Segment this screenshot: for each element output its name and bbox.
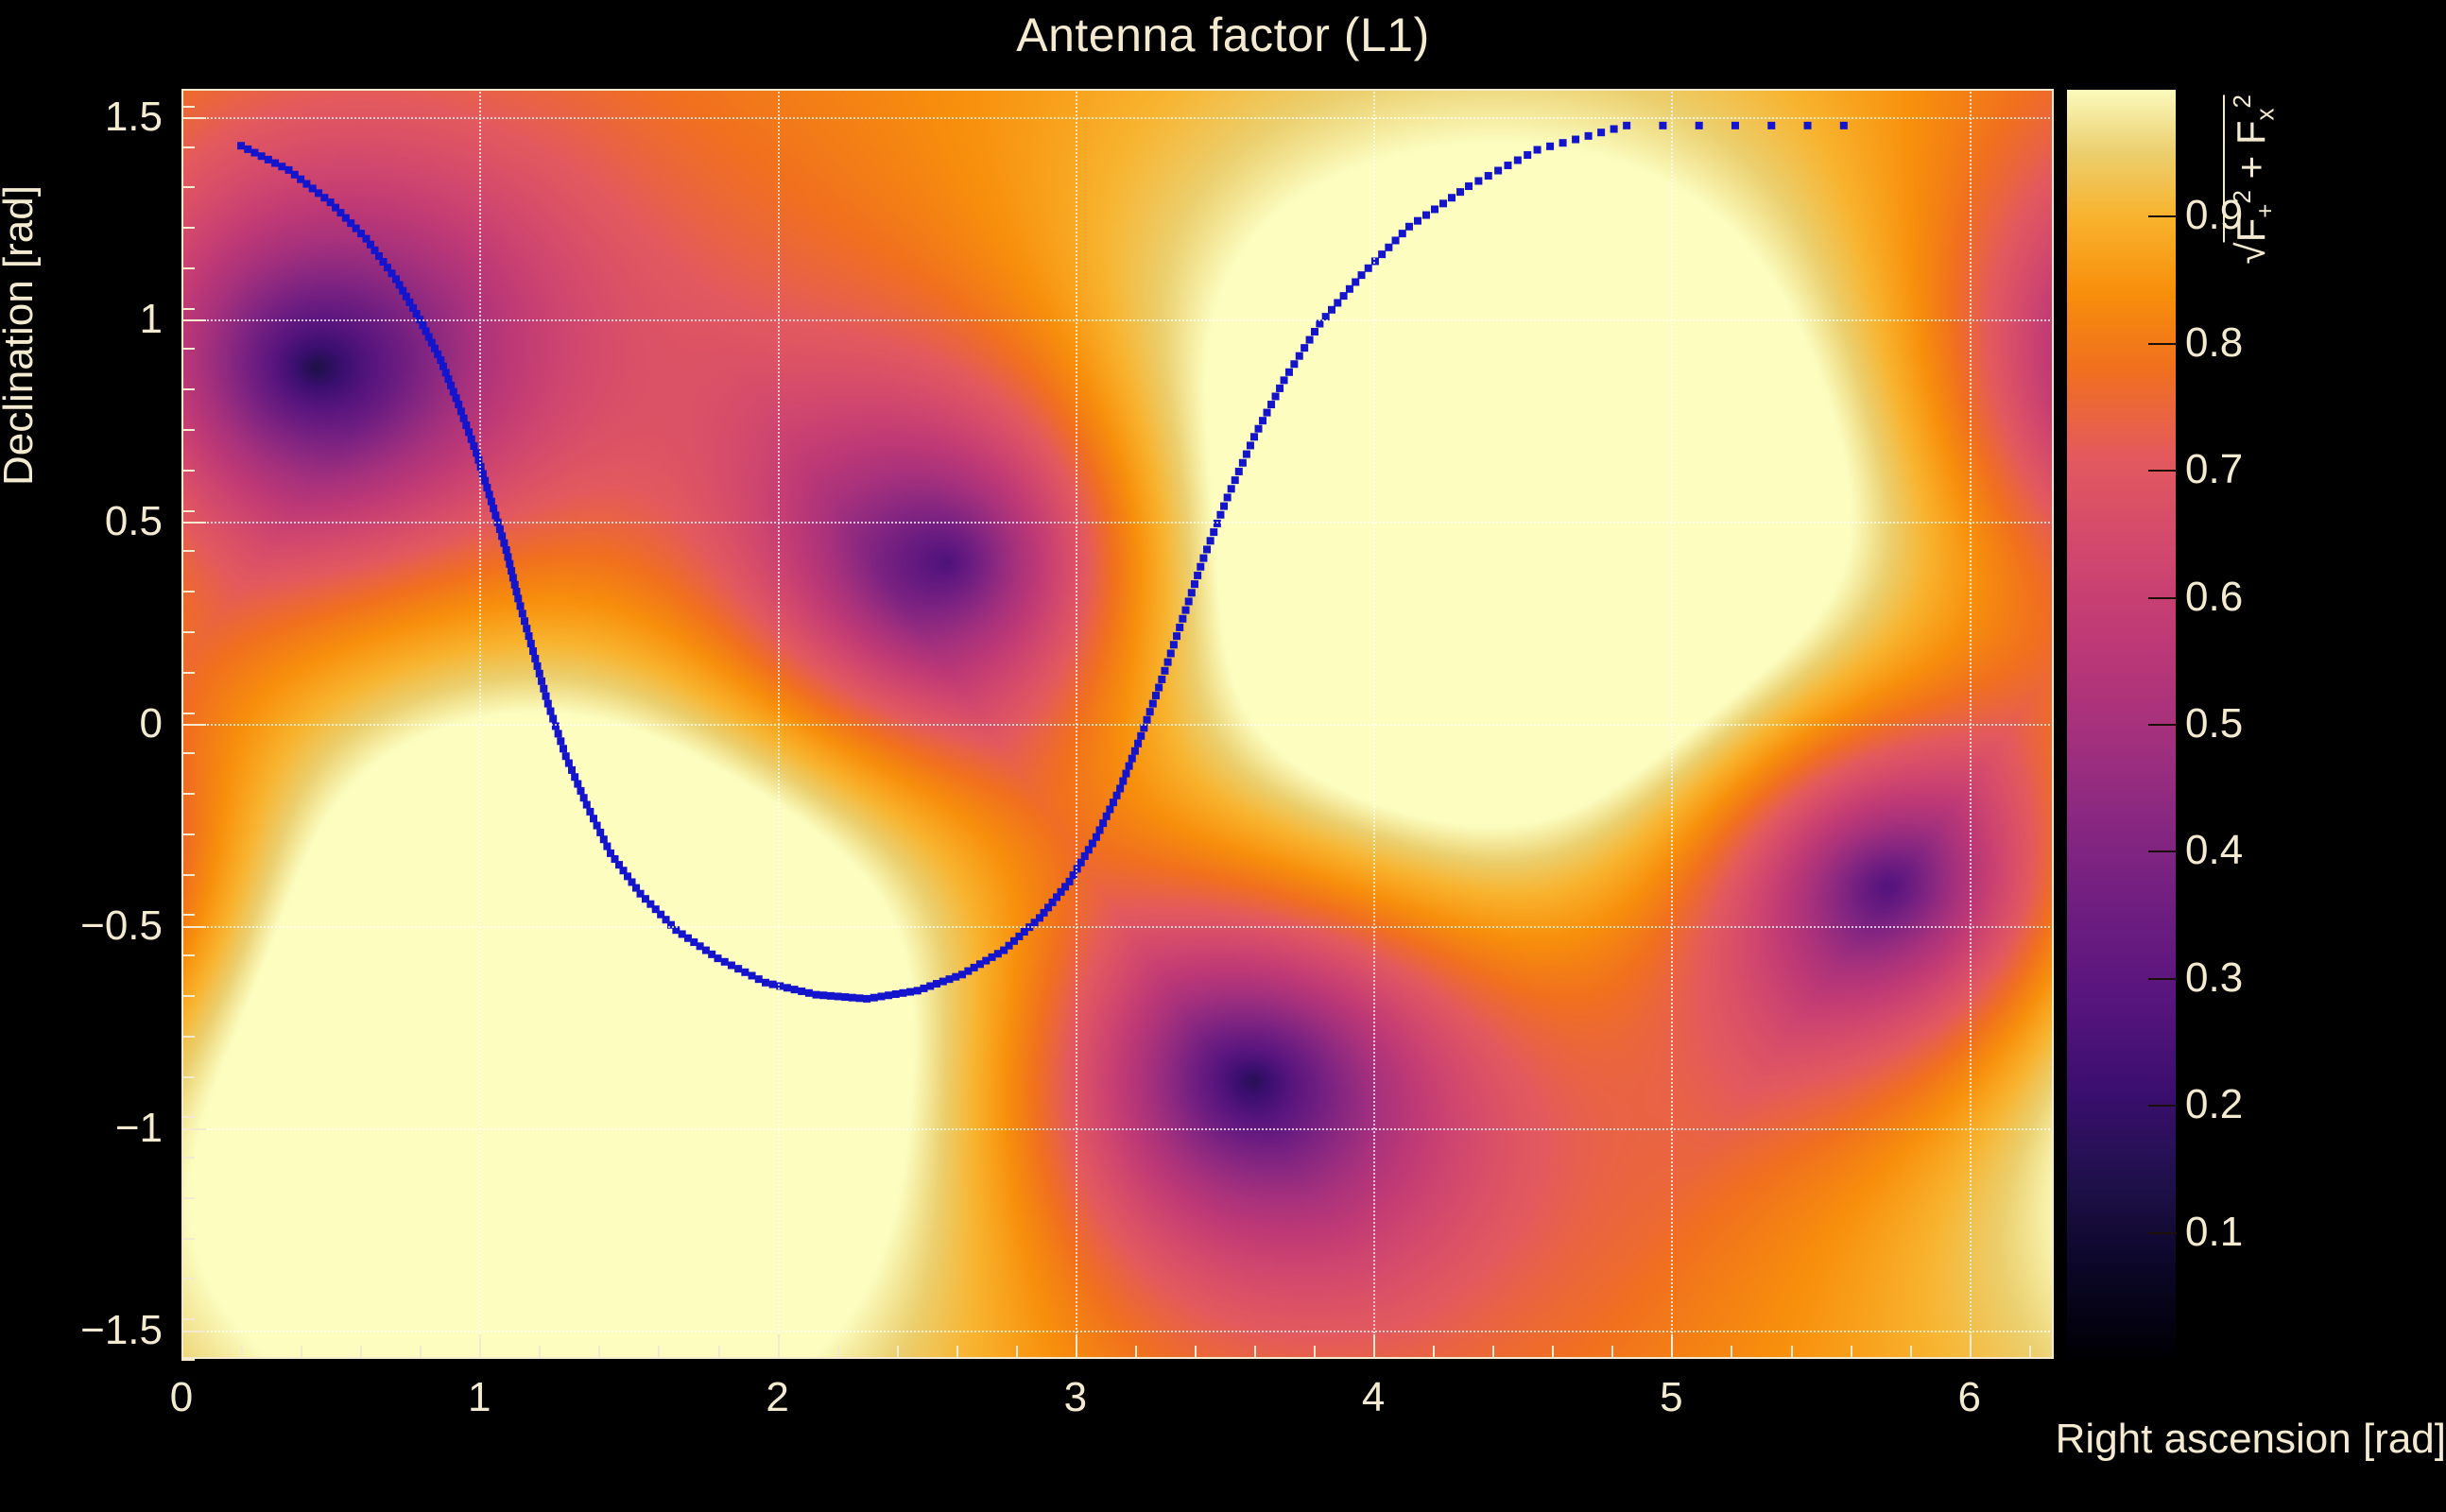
- overlay-point: [1224, 493, 1232, 501]
- overlay-point: [1767, 122, 1775, 129]
- overlay-point: [835, 992, 842, 1000]
- y-tick-minor: [181, 106, 195, 108]
- y-tick-minor: [181, 672, 195, 674]
- y-tick-minor: [181, 631, 195, 633]
- y-axis-title: Declination [rad]: [0, 5, 43, 666]
- overlay-point: [1096, 826, 1104, 833]
- overlay-point: [1131, 747, 1139, 755]
- overlay-point: [1194, 572, 1201, 579]
- overlay-point: [534, 662, 542, 670]
- overlay-point: [1247, 441, 1254, 449]
- overlay-point: [540, 685, 547, 693]
- overlay-point: [769, 981, 777, 988]
- colorbar-tick-label: 0.5: [2185, 700, 2243, 747]
- overlay-point: [521, 617, 528, 625]
- y-tick-minor: [181, 510, 195, 512]
- overlay-point: [500, 540, 508, 547]
- x-tick-minor: [718, 1346, 720, 1359]
- overlay-point: [517, 602, 525, 610]
- overlay-point: [577, 787, 584, 795]
- overlay-point: [457, 407, 465, 415]
- overlay-point: [899, 989, 906, 997]
- overlay-point: [1301, 344, 1308, 352]
- overlay-point: [1093, 833, 1100, 841]
- y-tick-minor: [181, 914, 195, 916]
- overlay-point: [1514, 157, 1522, 164]
- x-tick-major: [1970, 1334, 1972, 1359]
- x-tick-minor: [301, 1346, 302, 1359]
- x-tick-label: 6: [1957, 1374, 1980, 1421]
- overlay-point: [596, 829, 604, 836]
- overlay-point: [580, 794, 588, 801]
- x-tick-minor: [1254, 1346, 1256, 1359]
- overlay-point: [523, 625, 530, 632]
- overlay-point: [1422, 212, 1430, 219]
- x-tick-minor: [837, 1346, 839, 1359]
- overlay-point: [1140, 724, 1147, 731]
- overlay-point: [1611, 126, 1618, 133]
- overlay-point: [1220, 503, 1228, 510]
- colorbar-term1: F+2: [2229, 190, 2273, 242]
- overlay-point: [1659, 122, 1666, 129]
- y-tick-minor: [181, 146, 195, 148]
- overlay-point: [1524, 151, 1531, 159]
- x-tick-minor: [1552, 1346, 1554, 1359]
- colorbar-tick: [2148, 343, 2177, 345]
- x-tick-major: [1076, 1334, 1077, 1359]
- radical-icon: √F+2 + Fx2: [2223, 94, 2280, 277]
- y-tick-major: [181, 117, 206, 119]
- overlay-point: [1352, 278, 1359, 285]
- y-tick-label: −1: [30, 1105, 163, 1152]
- overlay-point: [1203, 545, 1211, 553]
- overlay-point: [1405, 223, 1413, 231]
- x-tick-major: [1671, 1334, 1673, 1359]
- overlay-point: [791, 986, 799, 993]
- overlay-point: [244, 146, 251, 153]
- overlay-point: [594, 822, 601, 830]
- overlay-point: [1152, 692, 1160, 699]
- overlay-point: [885, 991, 892, 999]
- overlay-point: [470, 442, 477, 450]
- colorbar-tick-label: 0.2: [2185, 1081, 2243, 1128]
- y-tick-minor: [181, 1318, 195, 1320]
- y-tick-label: 1: [30, 296, 163, 343]
- overlay-point: [1346, 285, 1353, 293]
- overlay-point: [1167, 649, 1175, 657]
- overlay-point: [571, 773, 578, 781]
- overlay-point: [870, 994, 878, 1002]
- x-tick-minor: [1611, 1346, 1613, 1359]
- overlay-point: [1546, 143, 1554, 150]
- overlay-point: [1197, 563, 1204, 571]
- x-tick-minor: [598, 1346, 600, 1359]
- overlay-point: [1103, 813, 1111, 820]
- overlay-point: [1119, 778, 1127, 785]
- overlay-point: [755, 975, 763, 983]
- x-tick-minor: [420, 1346, 422, 1359]
- plot-canvas: Antenna factor (L1) 0123456 −1.5−1−0.500…: [0, 0, 2446, 1512]
- overlay-point: [468, 436, 475, 443]
- overlay-point: [1128, 755, 1136, 763]
- overlay-point: [488, 498, 495, 506]
- overlay-point: [562, 752, 570, 760]
- colorbar-tick: [2148, 1232, 2177, 1234]
- y-tick-major: [181, 1331, 206, 1332]
- x-tick-minor: [1135, 1346, 1137, 1359]
- overlay-point: [1414, 217, 1421, 225]
- x-tick-minor: [1195, 1346, 1197, 1359]
- x-tick-major: [479, 1334, 481, 1359]
- overlay-point: [1392, 236, 1400, 244]
- x-tick-minor: [897, 1346, 899, 1359]
- y-tick-minor: [181, 591, 195, 593]
- x-tick-label: 1: [468, 1374, 491, 1421]
- y-tick-major: [181, 319, 206, 321]
- overlay-point: [1259, 417, 1266, 424]
- overlay-point: [1597, 129, 1605, 136]
- x-axis-title: Right ascension [rad]: [392, 1416, 2446, 1463]
- overlay-point: [508, 567, 515, 575]
- colorbar-title: √F+2 + Fx2: [2223, 94, 2280, 277]
- overlay-point: [1122, 770, 1129, 778]
- colorbar-tick: [2148, 978, 2177, 980]
- overlay-point: [1134, 740, 1142, 747]
- overlay-point: [741, 969, 749, 976]
- x-tick-minor: [1492, 1346, 1494, 1359]
- overlay-point: [1214, 520, 1221, 527]
- overlay-point: [544, 700, 552, 708]
- overlay-point: [776, 982, 784, 989]
- x-tick-label: 3: [1064, 1374, 1087, 1421]
- overlay-point: [798, 988, 805, 995]
- x-tick-major: [1373, 1334, 1375, 1359]
- x-tick-label: 2: [766, 1374, 788, 1421]
- overlay-point: [494, 519, 502, 526]
- overlay-point: [491, 511, 499, 519]
- overlay-point: [531, 655, 539, 662]
- x-tick-minor: [2029, 1346, 2031, 1359]
- overlay-point: [1285, 369, 1293, 376]
- overlay-point: [1316, 319, 1323, 327]
- overlay-point: [583, 801, 591, 809]
- overlay-point: [1185, 597, 1193, 605]
- y-tick-minor: [181, 954, 195, 956]
- colorbar-tick: [2148, 215, 2177, 217]
- overlay-point: [574, 781, 581, 788]
- overlay-point: [892, 990, 900, 998]
- overlay-point: [1146, 708, 1154, 715]
- x-tick-minor: [539, 1346, 541, 1359]
- overlay-point: [479, 470, 487, 477]
- overlay-point: [557, 737, 564, 745]
- overlay-point: [498, 532, 506, 540]
- x-tick-minor: [956, 1346, 958, 1359]
- overlay-point: [258, 152, 266, 160]
- overlay-point: [819, 991, 827, 999]
- overlay-point: [1322, 313, 1330, 320]
- overlay-point: [1290, 360, 1298, 368]
- overlay-point: [1378, 250, 1386, 258]
- y-tick-minor: [181, 429, 195, 431]
- colorbar-tick: [2148, 850, 2177, 852]
- overlay-point: [1239, 459, 1247, 467]
- overlay-point: [565, 760, 573, 767]
- overlay-point: [549, 714, 557, 722]
- y-tick-minor: [181, 713, 195, 714]
- overlay-point: [1281, 376, 1288, 384]
- x-tick-minor: [241, 1346, 243, 1359]
- overlay-point: [734, 965, 742, 972]
- overlay-point: [525, 632, 533, 640]
- overlay-point: [511, 581, 519, 589]
- overlay-point: [1328, 306, 1335, 314]
- overlay-point: [465, 428, 473, 436]
- overlay-point: [1173, 632, 1180, 640]
- colorbar-tick: [2148, 724, 2177, 726]
- overlay-point: [1113, 792, 1121, 799]
- colorbar-tick-label: 0.1: [2185, 1209, 2243, 1256]
- overlay-point: [1110, 799, 1117, 806]
- overlay-point: [715, 954, 722, 962]
- y-tick-minor: [181, 470, 195, 472]
- overlay-point: [1696, 122, 1703, 129]
- overlay-point: [1243, 451, 1250, 458]
- galactic-plane-overlay: [181, 89, 2054, 1359]
- overlay-point: [527, 640, 535, 647]
- overlay-point: [1164, 659, 1172, 666]
- x-tick-label: 4: [1362, 1374, 1385, 1421]
- overlay-point: [1144, 716, 1151, 724]
- overlay-point: [490, 505, 497, 512]
- overlay-point: [1255, 425, 1263, 433]
- overlay-point: [1456, 188, 1464, 196]
- y-tick-label: −1.5: [30, 1307, 163, 1354]
- overlay-point: [1371, 257, 1379, 265]
- overlay-point: [1311, 328, 1318, 335]
- overlay-point: [1228, 485, 1235, 492]
- overlay-point: [1306, 336, 1314, 344]
- overlay-point: [560, 745, 567, 752]
- overlay-point: [1494, 167, 1502, 175]
- y-tick-minor: [181, 874, 195, 876]
- colorbar-tick: [2148, 470, 2177, 472]
- overlay-point: [552, 722, 560, 730]
- overlay-point: [460, 415, 468, 422]
- x-tick-label: 0: [170, 1374, 193, 1421]
- overlay-point: [237, 142, 245, 149]
- overlay-point: [1485, 172, 1492, 180]
- overlay-point: [1623, 122, 1630, 129]
- x-tick-major: [181, 1334, 183, 1359]
- overlay-point: [1474, 178, 1482, 185]
- y-tick-minor: [181, 1278, 195, 1280]
- overlay-point: [1585, 132, 1593, 140]
- overlay-point: [504, 553, 511, 560]
- y-tick-major: [181, 1128, 206, 1130]
- overlay-point: [547, 708, 555, 715]
- overlay-point: [1264, 409, 1271, 417]
- overlay-point: [477, 463, 485, 471]
- overlay-point: [784, 984, 791, 991]
- overlay-point: [1340, 292, 1348, 300]
- y-tick-minor: [181, 1157, 195, 1159]
- overlay-point: [481, 477, 489, 485]
- overlay-point: [538, 678, 545, 685]
- overlay-point: [1126, 763, 1133, 770]
- overlay-point: [1161, 667, 1168, 675]
- overlay-point: [805, 989, 813, 997]
- x-tick-label: 5: [1660, 1374, 1682, 1421]
- overlay-point: [1276, 385, 1283, 392]
- overlay-point: [473, 449, 480, 456]
- y-tick-label: −0.5: [30, 902, 163, 950]
- overlay-point: [278, 163, 285, 170]
- overlay-point: [1232, 476, 1239, 484]
- colorbar-tick: [2148, 597, 2177, 599]
- overlay-point: [486, 490, 493, 498]
- y-tick-minor: [181, 1036, 195, 1038]
- y-tick-minor: [181, 752, 195, 754]
- overlay-point: [555, 730, 562, 737]
- y-tick-minor: [181, 267, 195, 269]
- overlay-point: [265, 156, 272, 163]
- x-tick-major: [778, 1334, 780, 1359]
- y-tick-minor: [181, 348, 195, 350]
- overlay-point: [1448, 194, 1456, 201]
- x-tick-minor: [658, 1346, 660, 1359]
- overlay-point: [586, 808, 594, 816]
- heatmap-plot-area[interactable]: [181, 89, 2054, 1359]
- y-tick-minor: [181, 1238, 195, 1240]
- overlay-point: [483, 484, 491, 491]
- overlay-point: [568, 766, 576, 774]
- overlay-point: [1267, 401, 1275, 408]
- overlay-point: [1106, 805, 1113, 813]
- overlay-point: [1559, 139, 1567, 146]
- overlay-point: [1216, 511, 1224, 519]
- colorbar-tick-label: 0.3: [2185, 954, 2243, 1002]
- colorbar-tick-label: 0.8: [2185, 319, 2243, 367]
- overlay-point: [721, 958, 729, 966]
- overlay-point: [1155, 683, 1163, 691]
- colorbar-tick-label: 0.4: [2185, 827, 2243, 874]
- y-tick-minor: [181, 550, 195, 552]
- overlay-point: [1365, 265, 1372, 272]
- overlay-point: [1250, 433, 1258, 440]
- y-tick-minor: [181, 308, 195, 310]
- colorbar-operator: +: [2229, 156, 2273, 180]
- overlay-point: [1188, 589, 1196, 596]
- overlay-point: [1272, 392, 1280, 400]
- overlay-point: [906, 988, 914, 996]
- overlay-point: [462, 421, 470, 429]
- overlay-point: [1439, 199, 1447, 207]
- overlay-point: [1116, 784, 1124, 792]
- overlay-point: [536, 670, 543, 678]
- y-tick-label: 0.5: [30, 498, 163, 545]
- overlay-point: [1235, 468, 1243, 475]
- sqrt-glyph: √: [2229, 242, 2273, 264]
- y-tick-minor: [181, 833, 195, 835]
- overlay-point: [1199, 555, 1207, 562]
- overlay-point: [1358, 271, 1366, 279]
- y-tick-major: [181, 522, 206, 524]
- x-tick-minor: [1851, 1346, 1852, 1359]
- overlay-point: [762, 979, 769, 987]
- overlay-point: [1191, 580, 1198, 588]
- overlay-point: [600, 835, 608, 843]
- overlay-point: [1210, 528, 1217, 536]
- colorbar-tick-label: 0.7: [2185, 446, 2243, 493]
- overlay-point: [863, 995, 870, 1003]
- overlay-point: [1804, 122, 1812, 129]
- y-tick-minor: [181, 1076, 195, 1078]
- overlay-point: [1572, 136, 1579, 144]
- overlay-point: [1334, 299, 1341, 306]
- x-tick-minor: [1433, 1346, 1435, 1359]
- overlay-point: [1465, 182, 1473, 190]
- y-tick-minor: [181, 995, 195, 997]
- overlay-point: [1504, 162, 1511, 169]
- overlay-point: [543, 693, 550, 700]
- overlay-point: [271, 160, 279, 167]
- colorbar-tick: [2148, 1105, 2177, 1107]
- overlay-point: [1137, 732, 1145, 740]
- overlay-point: [1207, 537, 1214, 544]
- overlay-point: [590, 815, 597, 822]
- y-tick-minor: [181, 227, 195, 229]
- y-tick-minor: [181, 186, 195, 188]
- overlay-point: [1840, 122, 1848, 129]
- y-tick-minor: [181, 1197, 195, 1199]
- x-tick-minor: [1791, 1346, 1793, 1359]
- y-tick-label: 0: [30, 700, 163, 747]
- x-tick-minor: [1016, 1346, 1018, 1359]
- overlay-point: [519, 610, 526, 617]
- overlay-point: [506, 560, 513, 568]
- y-tick-label: 1.5: [30, 94, 163, 141]
- page-title: Antenna factor (L1): [0, 8, 2446, 62]
- x-tick-minor: [1314, 1346, 1316, 1359]
- overlay-point: [496, 525, 504, 533]
- overlay-point: [512, 588, 520, 595]
- overlay-point: [503, 546, 510, 554]
- overlay-point: [1176, 624, 1183, 631]
- overlay-point: [1431, 205, 1438, 213]
- overlay-point: [1534, 146, 1542, 154]
- y-tick-minor: [181, 1359, 195, 1361]
- overlay-point: [1296, 352, 1303, 360]
- overlay-point: [1399, 230, 1406, 237]
- overlay-point: [1158, 676, 1165, 683]
- overlay-point: [749, 971, 756, 979]
- x-tick-minor: [1910, 1346, 1912, 1359]
- colorbar-tick-label: 0.6: [2185, 574, 2243, 621]
- overlay-point: [250, 149, 258, 157]
- y-tick-minor: [181, 388, 195, 390]
- y-tick-minor: [181, 1116, 195, 1118]
- overlay-point: [813, 991, 820, 999]
- overlay-point: [728, 961, 735, 969]
- colorbar-term2: Fx2: [2229, 94, 2273, 145]
- overlay-point: [509, 574, 517, 581]
- overlay-point: [877, 992, 885, 1000]
- overlay-point: [514, 594, 522, 602]
- overlay-point: [827, 992, 835, 1000]
- overlay-point: [474, 456, 482, 464]
- overlay-point: [841, 993, 849, 1001]
